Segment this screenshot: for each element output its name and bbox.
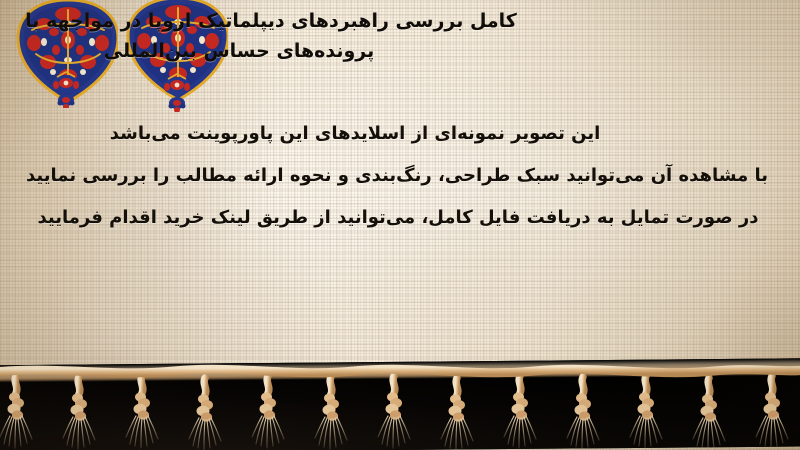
slide-body: این تصویر نمونه‌ای از اسلایدهای این پاور… (0, 113, 800, 239)
slide-title: کامل بررسی راهبردهای دیپلماتیک اروپا در … (0, 6, 792, 66)
body-line-1: این تصویر نمونه‌ای از اسلایدهای این پاور… (0, 113, 800, 155)
carpet-fringe-tassels-icon (0, 346, 800, 450)
body-line-3: در صورت تمایل به دریافت فایل کامل، می‌تو… (0, 197, 800, 239)
carpet-fringe-zone (0, 346, 800, 450)
slide-canvas: کامل بررسی راهبردهای دیپلماتیک اروپا در … (0, 0, 800, 450)
title-line-1: کامل بررسی راهبردهای دیپلماتیک اروپا در … (0, 6, 542, 36)
title-line-2: پرونده‌های حساس بین‌المللی (0, 36, 542, 66)
body-line-2: با مشاهده آن می‌توانید سبک طراحی، رنگ‌بن… (0, 155, 800, 197)
